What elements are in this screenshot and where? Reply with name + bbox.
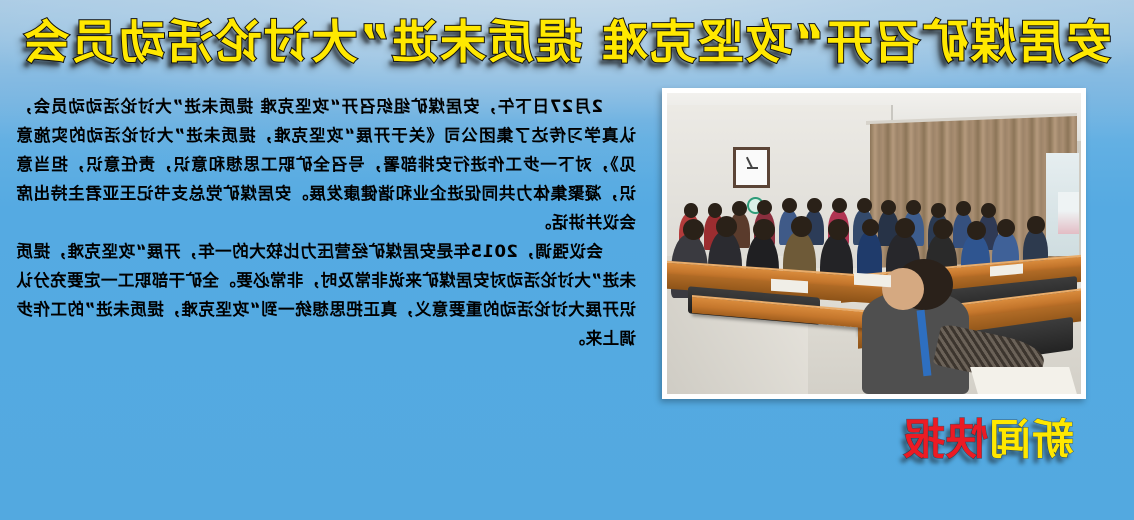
attendee-head <box>857 198 872 213</box>
attendee-head <box>757 200 772 215</box>
photo-frame <box>662 88 1086 399</box>
article-paragraph-2: 会议强调，2015年是安居煤矿经营压力比较大的一年，开展“攻坚克难，提质未进”大… <box>16 237 636 353</box>
attendee-head <box>931 203 946 218</box>
desk-paper <box>853 272 890 287</box>
article-body: 2月27日下午，安居煤矿组织召开“攻坚克难 提质未进”大讨论活动动员会，认真学习… <box>16 92 636 353</box>
news-poster-page: 安居煤矿召开“攻坚克难 提质未进”大讨论活动员会 <box>0 0 1134 520</box>
attendee-head <box>753 219 775 240</box>
attendee-head <box>967 221 986 240</box>
attendee-head <box>862 219 879 236</box>
attendee-head <box>1027 216 1044 233</box>
foreground-attendee-face <box>882 268 923 310</box>
wall-clock-icon <box>733 147 770 188</box>
article-paragraph-1: 2月27日下午，安居煤矿组织召开“攻坚克难 提质未进”大讨论活动动员会，认真学习… <box>16 92 636 237</box>
meeting-room-photo <box>667 93 1081 394</box>
attendee-head <box>791 216 812 236</box>
mirrored-content-wrapper: 安居煤矿召开“攻坚克难 提质未进”大讨论活动员会 <box>0 0 1134 520</box>
logo-text-bulletin: 快报 <box>902 415 988 464</box>
attendee-head <box>832 198 847 213</box>
attendee-head <box>933 219 953 239</box>
attendee-head <box>997 219 1015 237</box>
attendee-head <box>981 203 996 218</box>
attendee-head <box>906 200 921 215</box>
headline-container: 安居煤矿召开“攻坚克难 提质未进”大讨论活动员会 <box>0 12 1134 72</box>
attendee-head <box>828 219 849 239</box>
page-title: 安居煤矿召开“攻坚克难 提质未进”大讨论活动员会 <box>22 12 1112 72</box>
attendee <box>857 231 882 276</box>
logo-text-news: 新闻 <box>988 415 1074 464</box>
foreground-paper <box>969 367 1076 394</box>
desk-paper <box>771 278 808 293</box>
wall-poster <box>1058 192 1079 234</box>
news-bulletin-logo: 新闻快报 <box>902 412 1074 468</box>
